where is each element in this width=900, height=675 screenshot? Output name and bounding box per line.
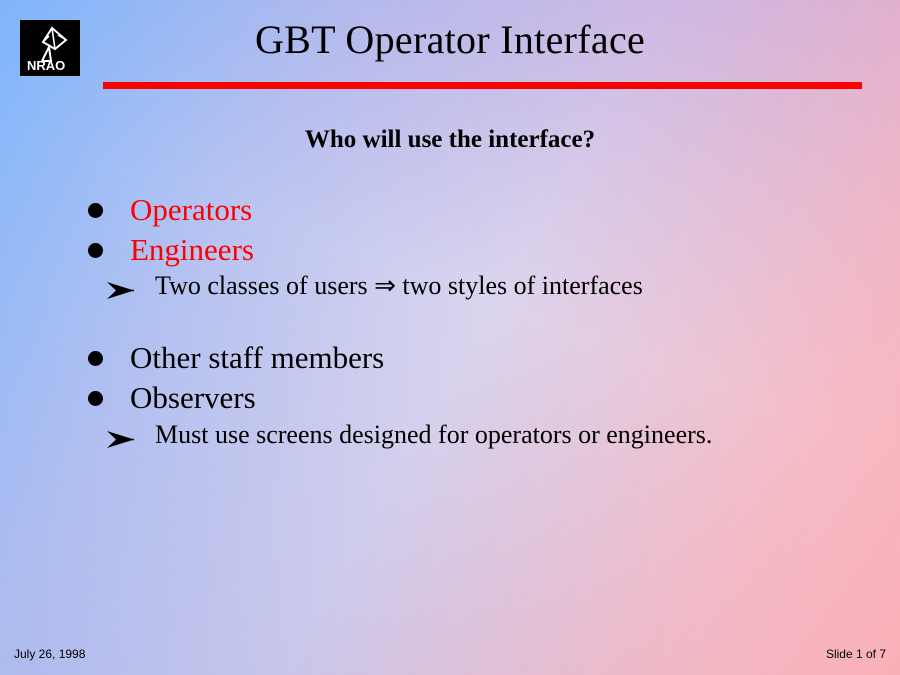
footer-date: July 26, 1998 xyxy=(14,647,85,661)
sub-bullet-label: Must use screens designed for operators … xyxy=(155,418,712,451)
disc-bullet-icon xyxy=(88,391,103,406)
slide-canvas: NRAO GBT Operator Interface Who will use… xyxy=(0,0,900,675)
list-item: Engineers xyxy=(0,230,900,270)
disc-bullet-icon xyxy=(88,243,103,258)
list-item: Observers xyxy=(0,378,900,418)
arrow-bullet-icon xyxy=(105,278,137,304)
footer-slide-number: Slide 1 of 7 xyxy=(826,647,886,661)
spacer xyxy=(0,304,900,338)
page-title: GBT Operator Interface xyxy=(0,18,900,62)
title-underline-rule xyxy=(103,82,862,89)
sub-bullet-label: Two classes of users ⇒ two styles of int… xyxy=(155,269,643,302)
bullet-list: Operators Engineers Two classes of users… xyxy=(0,190,900,453)
list-item: Operators xyxy=(0,190,900,230)
arrow-bullet-icon xyxy=(105,427,137,453)
disc-bullet-icon xyxy=(88,203,103,218)
bullet-label: Observers xyxy=(130,378,256,418)
sub-list-item: Must use screens designed for operators … xyxy=(0,418,900,453)
list-item: Other staff members xyxy=(0,338,900,378)
bullet-label: Engineers xyxy=(130,230,254,270)
bullet-label: Operators xyxy=(130,190,252,230)
slide-subtitle: Who will use the interface? xyxy=(0,126,900,154)
sub-list-item: Two classes of users ⇒ two styles of int… xyxy=(0,269,900,304)
disc-bullet-icon xyxy=(88,351,103,366)
bullet-label: Other staff members xyxy=(130,338,384,378)
